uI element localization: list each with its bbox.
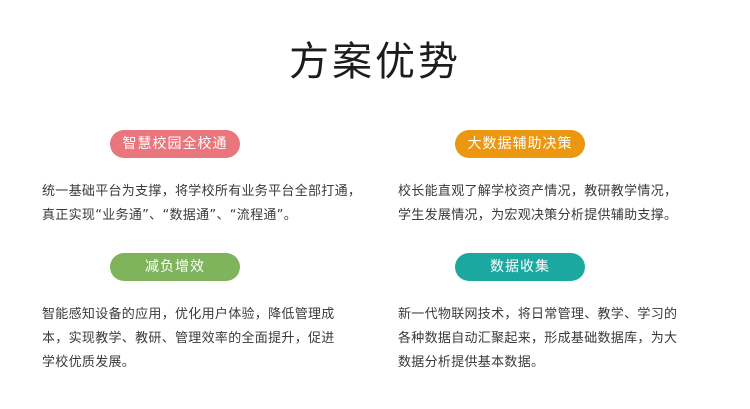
badge-burden-reduction: 减负增效 <box>110 253 240 281</box>
text-line: 校长能直观了解学校资产情况，教研教学情况， <box>398 180 728 204</box>
badge-row: 智慧校园全校通 <box>42 130 362 158</box>
feature-block-burden-reduction: 减负增效 智能感知设备的应用，优化用户体验，降低管理成 本，实现教学、教研、管理… <box>42 253 362 375</box>
text-line: 新一代物联网技术，将日常管理、教学、学习的 <box>398 303 728 327</box>
badge-row: 数据收集 <box>398 253 728 281</box>
feature-block-big-data-decision: 大数据辅助决策 校长能直观了解学校资产情况，教研教学情况， 学生发展情况，为宏观… <box>398 130 728 228</box>
feature-description-big-data-decision: 校长能直观了解学校资产情况，教研教学情况， 学生发展情况，为宏观决策分析提供辅助… <box>398 180 728 228</box>
text-line: 学校优质发展。 <box>42 351 362 375</box>
text-line: 统一基础平台为支撑，将学校所有业务平台全部打通， <box>42 180 362 204</box>
feature-block-data-collection: 数据收集 新一代物联网技术，将日常管理、教学、学习的 各种数据自动汇聚起来，形成… <box>398 253 728 375</box>
text-line: 各种数据自动汇聚起来，形成基础数据库，为大 <box>398 327 728 351</box>
page-title: 方案优势 <box>0 36 750 88</box>
text-line: 本，实现教学、教研、管理效率的全面提升，促进 <box>42 327 362 351</box>
text-line: 真正实现“业务通”、“数据通”、“流程通”。 <box>42 204 362 228</box>
feature-block-smart-campus: 智慧校园全校通 统一基础平台为支撑，将学校所有业务平台全部打通， 真正实现“业务… <box>42 130 362 228</box>
feature-description-data-collection: 新一代物联网技术，将日常管理、教学、学习的 各种数据自动汇聚起来，形成基础数据库… <box>398 303 728 375</box>
text-line: 数据分析提供基本数据。 <box>398 351 728 375</box>
badge-big-data-decision: 大数据辅助决策 <box>455 130 585 158</box>
text-line: 智能感知设备的应用，优化用户体验，降低管理成 <box>42 303 362 327</box>
badge-data-collection: 数据收集 <box>455 253 585 281</box>
badge-smart-campus: 智慧校园全校通 <box>110 130 240 158</box>
slide-canvas: 方案优势 智慧校园全校通 统一基础平台为支撑，将学校所有业务平台全部打通， 真正… <box>0 0 750 409</box>
text-line: 学生发展情况，为宏观决策分析提供辅助支撑。 <box>398 204 728 228</box>
badge-row: 大数据辅助决策 <box>398 130 728 158</box>
feature-description-burden-reduction: 智能感知设备的应用，优化用户体验，降低管理成 本，实现教学、教研、管理效率的全面… <box>42 303 362 375</box>
feature-description-smart-campus: 统一基础平台为支撑，将学校所有业务平台全部打通， 真正实现“业务通”、“数据通”… <box>42 180 362 228</box>
badge-row: 减负增效 <box>42 253 362 281</box>
